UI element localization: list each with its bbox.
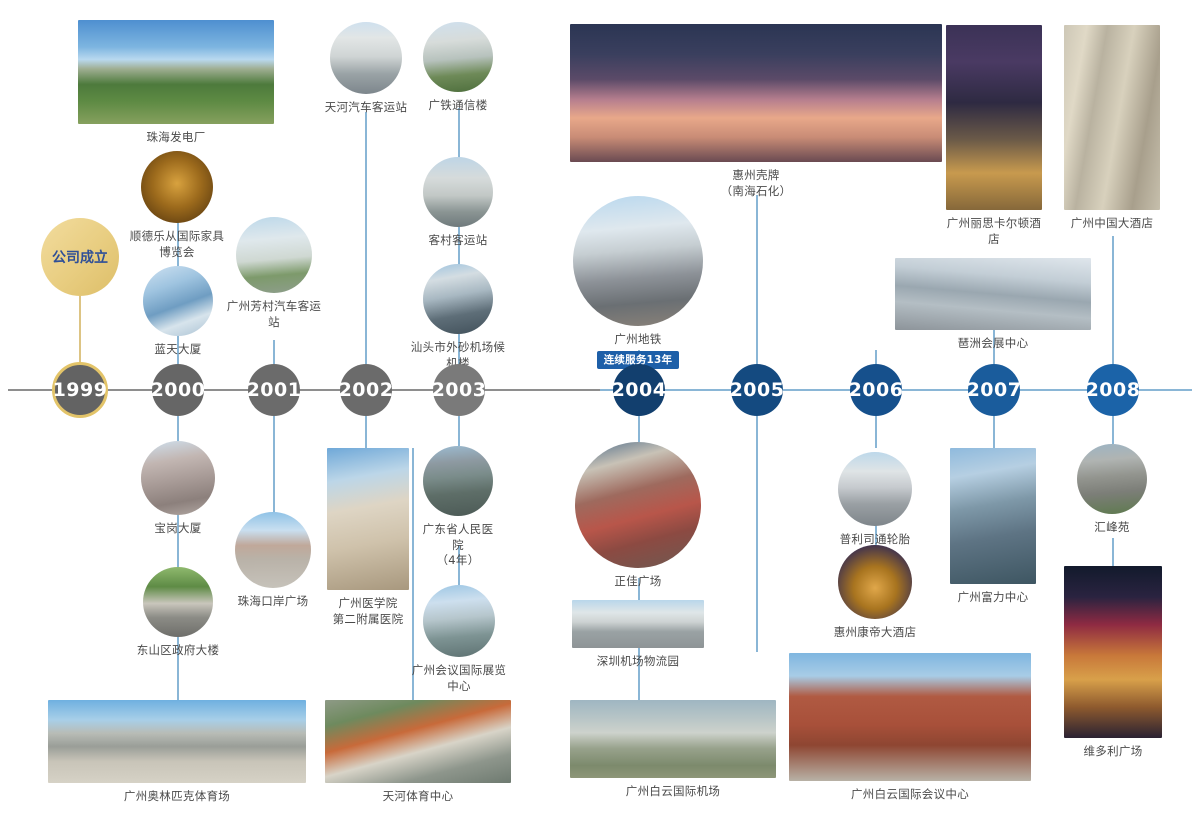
year-label: 1999 (53, 379, 108, 401)
project-caption: 天河汽车客运站 (323, 100, 409, 116)
connector-2002-down (365, 416, 367, 448)
project-caption: 广州会议国际展览中心 (406, 663, 512, 694)
year-label: 2000 (151, 379, 206, 401)
project-caption: 广州白云国际会议中心 (789, 787, 1031, 803)
project-node-guangtie[interactable]: 广铁通信楼 (419, 22, 497, 114)
project-caption: 广州丽思卡尔顿酒店 (946, 216, 1042, 247)
project-photo (143, 266, 213, 336)
project-node-bridgestone[interactable]: 普利司通轮胎 (838, 452, 912, 548)
connector-2001-down (273, 416, 275, 526)
connector-2008-up (1112, 236, 1114, 364)
project-caption: 广东省人民医院 （4年） (420, 522, 496, 569)
project-caption: 广州中国大酒店 (1064, 216, 1160, 232)
year-node-2001[interactable]: 2001 (248, 364, 300, 416)
project-node-dongshan[interactable]: 东山区政府大楼 (130, 567, 226, 659)
year-label: 2005 (730, 379, 785, 401)
year-node-2002[interactable]: 2002 (340, 364, 392, 416)
project-photo (143, 567, 213, 637)
project-node-kecun[interactable]: 客村客运站 (420, 157, 496, 249)
project-node-fangcun[interactable]: 广州芳村汽车客运站 (222, 217, 326, 330)
project-caption: 天河体育中心 (325, 789, 511, 805)
project-caption: 蓝天大厦 (134, 342, 222, 358)
project-photo (325, 700, 511, 783)
connector-2006-up (875, 350, 877, 364)
project-node-byconf[interactable]: 广州白云国际会议中心 (789, 653, 1031, 803)
year-node-2004[interactable]: 2004 (613, 364, 665, 416)
project-photo (423, 264, 493, 334)
project-photo (950, 448, 1036, 584)
project-node-ritz[interactable]: 广州丽思卡尔顿酒店 (946, 25, 1042, 247)
project-node-szairport[interactable]: 深圳机场物流园 (572, 600, 704, 670)
project-caption: 广州奥林匹克体育场 (48, 789, 306, 805)
project-photo (235, 512, 311, 588)
project-node-shantou[interactable]: 汕头市外砂机场候机楼 (406, 264, 510, 371)
connector-2006-down (875, 416, 877, 448)
connector-2008-down (1112, 416, 1114, 444)
project-photo (838, 545, 912, 619)
year-label: 2008 (1086, 379, 1141, 401)
project-photo (895, 258, 1091, 330)
project-caption: 宝岗大厦 (141, 521, 215, 537)
year-node-2007[interactable]: 2007 (968, 364, 1020, 416)
connector-2007-down (993, 416, 995, 448)
project-photo (423, 585, 495, 657)
project-node-olympic[interactable]: 广州奥林匹克体育场 (48, 700, 306, 805)
project-photo (575, 442, 701, 568)
year-node-2008[interactable]: 2008 (1087, 364, 1139, 416)
project-node-pazhou[interactable]: 琶洲会展中心 (895, 258, 1091, 352)
project-node-metro[interactable]: 广州地铁 连续服务13年 (573, 196, 703, 369)
project-caption: 广州医学院 第二附属医院 (327, 596, 409, 627)
project-caption: 广铁通信楼 (419, 98, 497, 114)
project-photo (423, 157, 493, 227)
timeline-infographic: 公司成立 1999 2000 2001 2002 2003 2004 2005 … (0, 0, 1200, 814)
project-node-gdpeople[interactable]: 广东省人民医院 （4年） (420, 446, 496, 569)
project-caption: 东山区政府大楼 (130, 643, 226, 659)
project-caption: 客村客运站 (420, 233, 496, 249)
project-caption: 深圳机场物流园 (572, 654, 704, 670)
project-node-zhuhaikouan[interactable]: 珠海口岸广场 (233, 512, 313, 610)
project-caption: 琶洲会展中心 (895, 336, 1091, 352)
project-node-kangdi[interactable]: 惠州康帝大酒店 (832, 545, 918, 641)
project-node-byairport[interactable]: 广州白云国际机场 (570, 700, 776, 800)
project-node-fuli[interactable]: 广州富力中心 (950, 448, 1036, 606)
year-node-2005[interactable]: 2005 (731, 364, 783, 416)
project-node-zhengjia[interactable]: 正佳广场 (575, 442, 701, 590)
project-node-bluetower[interactable]: 蓝天大厦 (134, 266, 222, 358)
project-photo (572, 600, 704, 648)
project-caption: 惠州康帝大酒店 (832, 625, 918, 641)
year-node-2003[interactable]: 2003 (433, 364, 485, 416)
project-photo (570, 24, 942, 162)
project-caption: 惠州壳牌 （南海石化） (570, 168, 942, 199)
project-caption: 广州芳村汽车客运站 (222, 299, 326, 330)
project-photo (423, 446, 493, 516)
project-photo (946, 25, 1042, 210)
year-node-1999[interactable]: 1999 (52, 362, 108, 418)
project-photo (1077, 444, 1147, 514)
project-node-baogang[interactable]: 宝岗大厦 (141, 441, 215, 537)
year-node-2000[interactable]: 2000 (152, 364, 204, 416)
project-node-gzmed[interactable]: 广州医学院 第二附属医院 (327, 448, 409, 627)
project-node-huifeng[interactable]: 汇峰苑 (1077, 444, 1147, 536)
connector-huifeng-victory (1112, 538, 1114, 566)
project-node-chinahotel[interactable]: 广州中国大酒店 (1064, 25, 1160, 232)
project-photo (789, 653, 1031, 781)
connector-2001-up (273, 340, 275, 364)
project-node-shell[interactable]: 惠州壳牌 （南海石化） (570, 24, 942, 199)
project-photo (236, 217, 312, 293)
project-node-tianhebus[interactable]: 天河汽车客运站 (323, 22, 409, 116)
project-photo (1064, 566, 1162, 738)
project-photo (141, 441, 215, 515)
project-caption: 广州白云国际机场 (570, 784, 776, 800)
project-node-powerplant[interactable]: 珠海发电厂 (78, 20, 274, 146)
founding-label: 公司成立 (52, 247, 108, 267)
project-node-gzexpo[interactable]: 广州会议国际展览中心 (406, 585, 512, 694)
project-photo (1064, 25, 1160, 210)
project-photo (78, 20, 274, 124)
year-label: 2007 (967, 379, 1022, 401)
project-photo (327, 448, 409, 590)
project-node-furniture[interactable]: 顺德乐从国际家具博览会 (127, 151, 227, 260)
project-node-victory[interactable]: 维多利广场 (1064, 566, 1162, 760)
project-photo (141, 151, 213, 223)
founding-connector (79, 296, 81, 366)
year-label: 2002 (339, 379, 394, 401)
project-caption: 正佳广场 (575, 574, 701, 590)
project-photo (423, 22, 493, 92)
project-photo (570, 700, 776, 778)
project-caption: 汇峰苑 (1077, 520, 1147, 536)
project-photo (573, 196, 703, 326)
year-label: 2004 (612, 379, 667, 401)
founding-badge: 公司成立 (41, 218, 119, 296)
project-caption: 顺德乐从国际家具博览会 (127, 229, 227, 260)
year-label: 2003 (432, 379, 487, 401)
project-photo (838, 452, 912, 526)
project-node-tianhesport[interactable]: 天河体育中心 (325, 700, 511, 805)
project-caption: 广州地铁 (573, 332, 703, 348)
project-photo (330, 22, 402, 94)
project-caption: 维多利广场 (1064, 744, 1162, 760)
project-caption: 广州富力中心 (950, 590, 1036, 606)
connector-2003-down (458, 416, 460, 446)
connector-2004-down (638, 416, 640, 442)
year-label: 2006 (849, 379, 904, 401)
year-node-2006[interactable]: 2006 (850, 364, 902, 416)
connector-guangtie-kecun (458, 108, 460, 158)
connector-2005-down (756, 416, 758, 652)
project-caption: 珠海发电厂 (78, 130, 274, 146)
connector-2005-up (756, 195, 758, 364)
connector-2002-up (365, 112, 367, 364)
project-photo (48, 700, 306, 783)
project-caption: 珠海口岸广场 (233, 594, 313, 610)
year-label: 2001 (247, 379, 302, 401)
